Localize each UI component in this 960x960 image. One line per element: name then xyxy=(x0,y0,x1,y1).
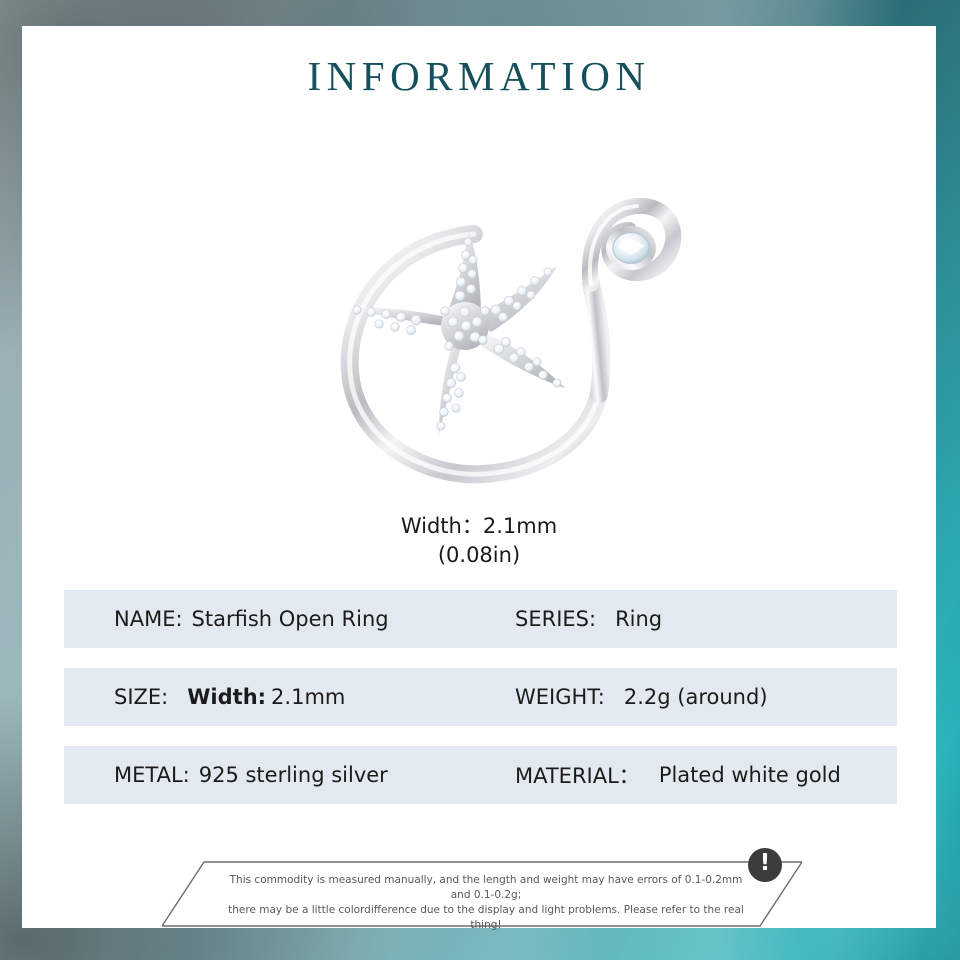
spec-name-value: Starfish Open Ring xyxy=(192,607,389,631)
product-photo xyxy=(22,156,936,516)
product-information-page: INFORMATION xyxy=(0,0,960,960)
spec-material-key: MATERIAL： xyxy=(515,760,640,790)
table-row: SIZE: Width: 2.1mm WEIGHT: 2.2g (around) xyxy=(64,668,897,726)
spec-size-value-label: Width: xyxy=(187,685,266,709)
disclaimer-text: This commodity is measured manually, and… xyxy=(222,873,750,933)
spec-metal-value: 925 sterling silver xyxy=(199,763,388,787)
spec-material: MATERIAL： Plated white gold xyxy=(498,746,897,804)
spec-series-value: Ring xyxy=(615,607,662,631)
spec-size: SIZE: Width: 2.1mm xyxy=(64,668,498,726)
disclaimer-banner: ! This commodity is measured manually, a… xyxy=(162,846,802,930)
table-row: NAME: Starfish Open Ring SERIES: Ring xyxy=(64,590,897,648)
spec-series-key: SERIES: xyxy=(515,607,596,631)
page-title: INFORMATION xyxy=(22,56,936,97)
dimension-caption: Width：2.1mm (0.08in) xyxy=(22,512,936,570)
spec-series: SERIES: Ring xyxy=(498,590,897,648)
spec-metal: METAL: 925 sterling silver xyxy=(64,746,498,804)
table-row: METAL: 925 sterling silver MATERIAL： Pla… xyxy=(64,746,897,804)
information-card: INFORMATION xyxy=(22,26,936,928)
spec-weight: WEIGHT: 2.2g (around) xyxy=(498,668,897,726)
spec-size-value: 2.1mm xyxy=(271,685,345,709)
spec-metal-key: METAL: xyxy=(114,763,190,787)
caption-width: Width：2.1mm xyxy=(22,512,936,541)
disclaimer-line-2: there may be a little colordifference du… xyxy=(222,903,750,933)
caption-inches: (0.08in) xyxy=(22,541,936,570)
warning-icon: ! xyxy=(748,848,782,882)
spec-name: NAME: Starfish Open Ring xyxy=(64,590,498,648)
spec-material-value: Plated white gold xyxy=(659,763,841,787)
spec-name-key: NAME: xyxy=(114,607,183,631)
specification-table: NAME: Starfish Open Ring SERIES: Ring SI… xyxy=(64,590,897,824)
spec-size-key: SIZE: xyxy=(114,685,168,709)
warning-icon-glyph: ! xyxy=(760,852,771,875)
disclaimer-line-1: This commodity is measured manually, and… xyxy=(222,873,750,903)
starfish-open-ring-illustration xyxy=(269,156,689,486)
spec-weight-value: 2.2g (around) xyxy=(624,685,768,709)
spec-weight-key: WEIGHT: xyxy=(515,685,605,709)
